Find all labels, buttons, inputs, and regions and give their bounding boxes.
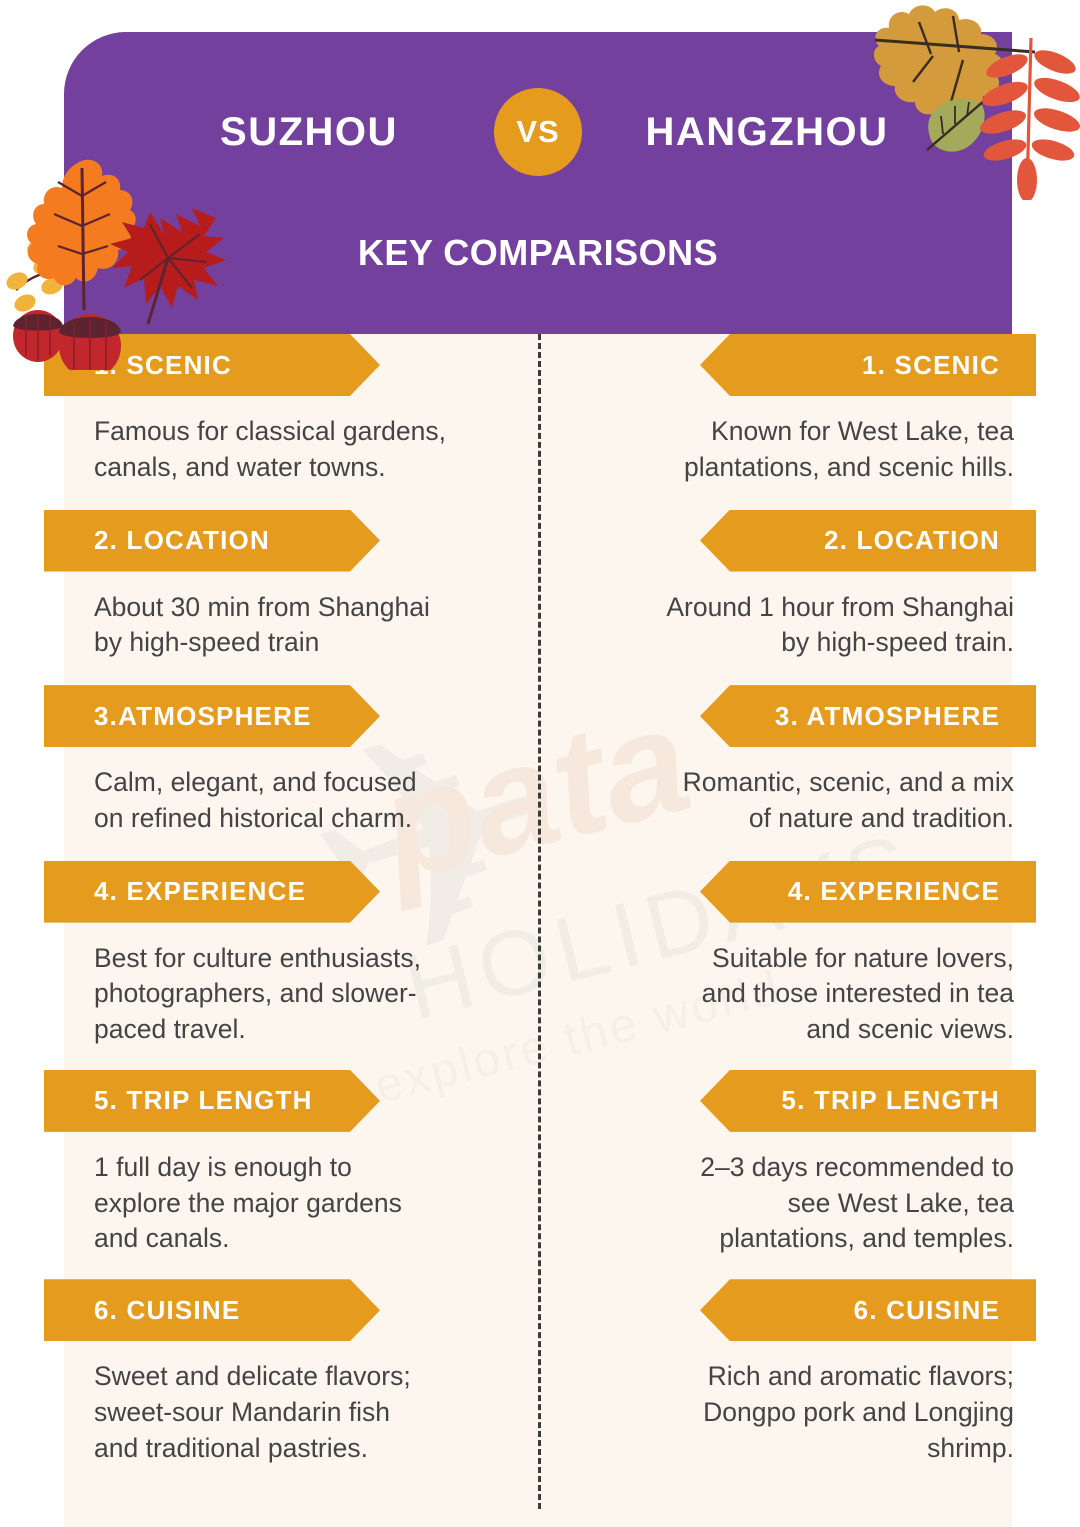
- badge-left-5-label: 5. TRIP LENGTH: [94, 1085, 313, 1116]
- row-right-3: 3. ATMOSPHERE Romantic, scenic, and a mi…: [540, 685, 1036, 837]
- right-column: 1. SCENIC Known for West Lake, tea plant…: [540, 334, 1036, 1466]
- row-left-4: 4. EXPERIENCE Best for culture enthusias…: [44, 861, 540, 1048]
- vs-badge: VS: [494, 88, 582, 176]
- badge-right-3-label: 3. ATMOSPHERE: [775, 701, 1000, 732]
- badge-right-3[interactable]: 3. ATMOSPHERE: [700, 685, 1036, 747]
- badge-left-6-label: 6. CUISINE: [94, 1295, 240, 1326]
- badge-right-4-label: 4. EXPERIENCE: [788, 876, 1000, 907]
- header-banner: SUZHOU VS HANGZHOU KEY COMPARISONS: [64, 32, 1012, 334]
- badge-left-1-label: 1. SCENIC: [94, 350, 232, 381]
- row-left-6: 6. CUISINE Sweet and delicate flavors; s…: [44, 1279, 540, 1466]
- desc-left-1: Famous for classical gardens, canals, an…: [44, 396, 540, 486]
- badge-left-5[interactable]: 5. TRIP LENGTH: [44, 1070, 380, 1132]
- left-city-title: SUZHOU: [144, 110, 474, 155]
- badge-left-2-label: 2. LOCATION: [94, 525, 270, 556]
- badge-left-3-label: 3.ATMOSPHERE: [94, 701, 312, 732]
- row-right-4: 4. EXPERIENCE Suitable for nature lovers…: [540, 861, 1036, 1048]
- desc-left-3: Calm, elegant, and focused on refined hi…: [44, 747, 540, 837]
- badge-right-1-label: 1. SCENIC: [862, 350, 1000, 381]
- badge-left-2[interactable]: 2. LOCATION: [44, 510, 380, 572]
- desc-left-4: Best for culture enthusiasts, photograph…: [44, 923, 540, 1048]
- row-left-2: 2. LOCATION About 30 min from Shanghai b…: [44, 510, 540, 662]
- desc-left-2: About 30 min from Shanghai by high-speed…: [44, 572, 540, 662]
- row-left-5: 5. TRIP LENGTH 1 full day is enough to e…: [44, 1070, 540, 1257]
- badge-right-2-label: 2. LOCATION: [824, 525, 1000, 556]
- page-title: KEY COMPARISONS: [64, 232, 1012, 274]
- badge-left-3[interactable]: 3.ATMOSPHERE: [44, 685, 380, 747]
- desc-right-2: Around 1 hour from Shanghai by high-spee…: [540, 572, 1036, 662]
- desc-right-1: Known for West Lake, tea plantations, an…: [540, 396, 1036, 486]
- badge-left-4-label: 4. EXPERIENCE: [94, 876, 306, 907]
- desc-right-4: Suitable for nature lovers, and those in…: [540, 923, 1036, 1048]
- desc-right-6: Rich and aromatic flavors; Dongpo pork a…: [540, 1341, 1036, 1466]
- badge-right-6[interactable]: 6. CUISINE: [700, 1279, 1036, 1341]
- left-column: 1. SCENIC Famous for classical gardens, …: [44, 334, 540, 1466]
- city-versus-row: SUZHOU VS HANGZHOU: [64, 32, 1012, 232]
- badge-left-6[interactable]: 6. CUISINE: [44, 1279, 380, 1341]
- badge-left-4[interactable]: 4. EXPERIENCE: [44, 861, 380, 923]
- desc-left-6: Sweet and delicate flavors; sweet-sour M…: [44, 1341, 540, 1466]
- badge-right-1[interactable]: 1. SCENIC: [700, 334, 1036, 396]
- badge-right-6-label: 6. CUISINE: [854, 1295, 1000, 1326]
- row-right-1: 1. SCENIC Known for West Lake, tea plant…: [540, 334, 1036, 486]
- badge-right-5-label: 5. TRIP LENGTH: [781, 1085, 1000, 1116]
- infographic-page: ✈ pata HOLIDAYS explore the world SUZHOU…: [0, 0, 1080, 1527]
- badge-right-4[interactable]: 4. EXPERIENCE: [700, 861, 1036, 923]
- badge-left-1[interactable]: 1. SCENIC: [44, 334, 380, 396]
- row-left-3: 3.ATMOSPHERE Calm, elegant, and focused …: [44, 685, 540, 837]
- badge-right-5[interactable]: 5. TRIP LENGTH: [700, 1070, 1036, 1132]
- row-left-1: 1. SCENIC Famous for classical gardens, …: [44, 334, 540, 486]
- row-right-2: 2. LOCATION Around 1 hour from Shanghai …: [540, 510, 1036, 662]
- badge-right-2[interactable]: 2. LOCATION: [700, 510, 1036, 572]
- desc-left-5: 1 full day is enough to explore the majo…: [44, 1132, 540, 1257]
- desc-right-5: 2–3 days recommended to see West Lake, t…: [540, 1132, 1036, 1257]
- row-right-6: 6. CUISINE Rich and aromatic flavors; Do…: [540, 1279, 1036, 1466]
- desc-right-3: Romantic, scenic, and a mix of nature an…: [540, 747, 1036, 837]
- row-right-5: 5. TRIP LENGTH 2–3 days recommended to s…: [540, 1070, 1036, 1257]
- right-city-title: HANGZHOU: [602, 110, 932, 155]
